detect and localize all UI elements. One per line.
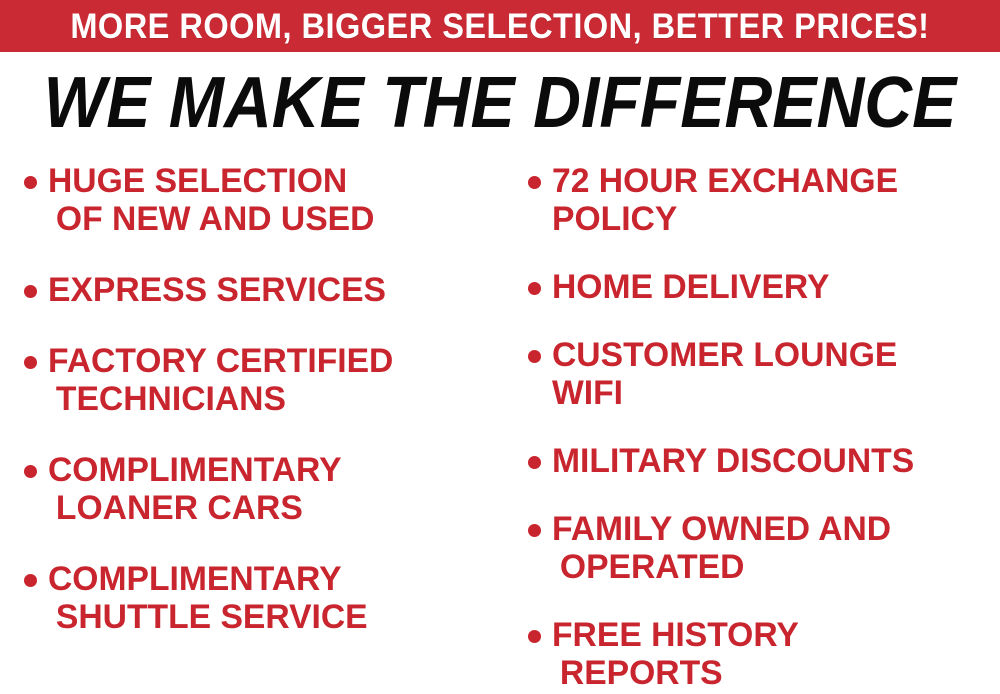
list-item-line1: FAMILY OWNED AND (552, 510, 891, 548)
list-item: MILITARY DISCOUNTS (522, 442, 1000, 480)
list-item-line1: HOME DELIVERY (552, 268, 829, 306)
list-item: HOME DELIVERY (522, 268, 1000, 306)
list-item-label: COMPLIMENTARYLOANER CARS (48, 451, 495, 527)
list-item-line2: REPORTS (552, 654, 996, 692)
list-item: COMPLIMENTARYSHUTTLE SERVICE (18, 560, 500, 636)
bullet-dot-icon (24, 176, 37, 189)
banner-headline: MORE ROOM, BIGGER SELECTION, BETTER PRIC… (70, 9, 929, 44)
benefits-columns: HUGE SELECTIONOF NEW AND USED EXPRESS SE… (0, 150, 1000, 694)
benefits-column-left: HUGE SELECTIONOF NEW AND USED EXPRESS SE… (0, 150, 500, 694)
bullet-dot-icon (528, 456, 541, 469)
bullet-dot-icon (24, 465, 37, 478)
list-item-label: 72 HOUR EXCHANGEPOLICY (552, 162, 996, 238)
bullet-dot-icon (24, 574, 37, 587)
list-item-label: MILITARY DISCOUNTS (552, 442, 996, 480)
list-item: FAMILY OWNED ANDOPERATED (522, 510, 1000, 586)
bullet-dot-icon (528, 282, 541, 295)
list-item-line2: LOANER CARS (48, 489, 495, 527)
list-item-label: CUSTOMER LOUNGEWIFI (552, 336, 996, 412)
list-item: CUSTOMER LOUNGEWIFI (522, 336, 1000, 412)
list-item-line1: EXPRESS SERVICES (48, 271, 386, 309)
list-item-line2: WIFI (552, 374, 623, 412)
benefits-column-right: 72 HOUR EXCHANGEPOLICY HOME DELIVERY CUS… (500, 150, 1000, 694)
list-item-line1: CUSTOMER LOUNGE (552, 336, 897, 374)
bullet-dot-icon (528, 350, 541, 363)
bullet-dot-icon (24, 285, 37, 298)
bullet-dot-icon (24, 356, 37, 369)
list-item-line2: OF NEW AND USED (48, 200, 495, 238)
list-item: FACTORY CERTIFIEDTECHNICIANS (18, 342, 500, 418)
bullet-dot-icon (528, 524, 541, 537)
list-item-label: HOME DELIVERY (552, 268, 996, 306)
headline-area: WE MAKE THE DIFFERENCE (0, 60, 1000, 146)
list-item-line1: FACTORY CERTIFIED (48, 342, 393, 380)
page-title: WE MAKE THE DIFFERENCE (44, 66, 957, 140)
top-banner: MORE ROOM, BIGGER SELECTION, BETTER PRIC… (0, 0, 1000, 52)
list-item-line1: 72 HOUR EXCHANGE (552, 162, 898, 200)
list-item: COMPLIMENTARYLOANER CARS (18, 451, 500, 527)
bullet-dot-icon (528, 176, 541, 189)
list-item: 72 HOUR EXCHANGEPOLICY (522, 162, 1000, 238)
list-item: FREE HISTORYREPORTS (522, 616, 1000, 692)
list-item: EXPRESS SERVICES (18, 271, 500, 309)
list-item-label: EXPRESS SERVICES (48, 271, 495, 309)
list-item-line2: TECHNICIANS (48, 380, 495, 418)
list-item-line2: POLICY (552, 200, 677, 238)
list-item-label: FREE HISTORYREPORTS (552, 616, 996, 692)
list-item: HUGE SELECTIONOF NEW AND USED (18, 162, 500, 238)
list-item-line1: MILITARY DISCOUNTS (552, 442, 914, 480)
list-item-label: COMPLIMENTARYSHUTTLE SERVICE (48, 560, 495, 636)
list-item-line2: SHUTTLE SERVICE (48, 598, 495, 636)
list-item-label: FACTORY CERTIFIEDTECHNICIANS (48, 342, 495, 418)
list-item-label: HUGE SELECTIONOF NEW AND USED (48, 162, 495, 238)
list-item-line1: HUGE SELECTION (48, 162, 347, 200)
list-item-label: FAMILY OWNED ANDOPERATED (552, 510, 996, 586)
list-item-line1: COMPLIMENTARY (48, 560, 342, 598)
bullet-dot-icon (528, 630, 541, 643)
dealership-benefits-poster: MORE ROOM, BIGGER SELECTION, BETTER PRIC… (0, 0, 1000, 694)
list-item-line1: COMPLIMENTARY (48, 451, 342, 489)
list-item-line1: FREE HISTORY (552, 616, 799, 654)
list-item-line2: OPERATED (552, 548, 996, 586)
